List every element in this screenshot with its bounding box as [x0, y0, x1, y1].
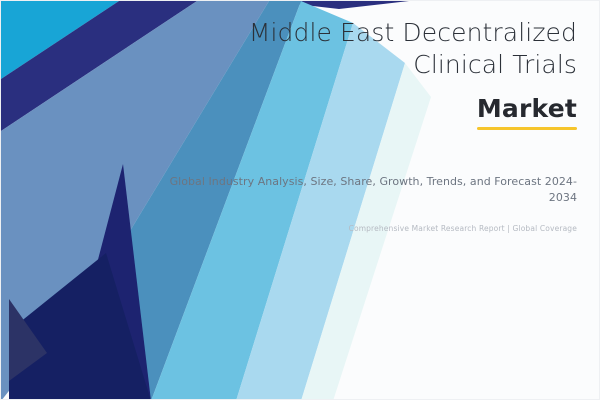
- market-heading-text: Market: [477, 94, 577, 123]
- market-heading-wrap: Market: [157, 95, 577, 130]
- cover-text-block: Middle East Decentralized Clinical Trial…: [157, 17, 577, 233]
- report-subtitle: Global Industry Analysis, Size, Share, G…: [157, 174, 577, 207]
- report-cover: Middle East Decentralized Clinical Trial…: [0, 0, 600, 400]
- report-tagline: Comprehensive Market Research Report | G…: [157, 224, 577, 233]
- accent-underline: [477, 127, 577, 130]
- report-title: Middle East Decentralized Clinical Trial…: [157, 17, 577, 81]
- market-heading: Market: [477, 95, 577, 130]
